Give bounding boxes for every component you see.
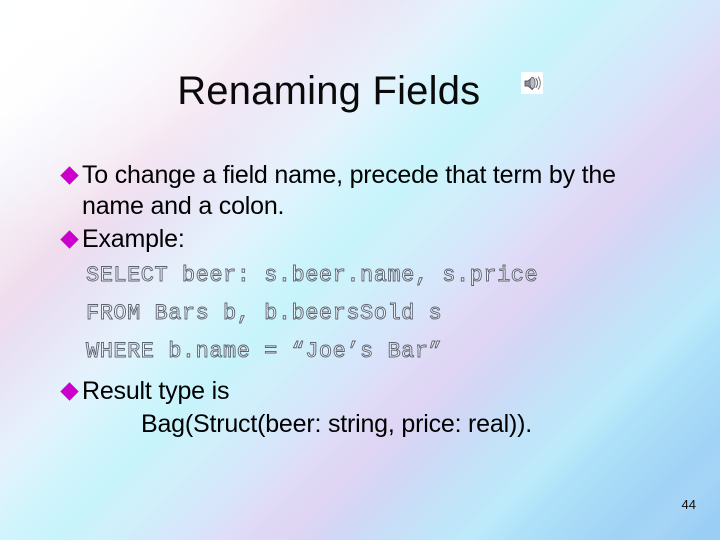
title-row: Renaming Fields: [0, 68, 720, 114]
diamond-bullet-icon: [62, 385, 80, 398]
code-line-from: FROM Bars b, b.beersSold s: [86, 295, 682, 333]
bullet-item-3: Result type is: [62, 376, 682, 407]
code-line-where: WHERE b.name = “Joe’s Bar”: [86, 333, 682, 371]
diamond-bullet-icon: [62, 169, 80, 182]
bullet-item-1: To change a field name, precede that ter…: [62, 160, 682, 222]
page-title: Renaming Fields: [177, 68, 480, 114]
sound-speaker-icon[interactable]: [521, 72, 543, 94]
bullet-item-2: Example:: [62, 224, 682, 255]
bullet-text-3: Result type is: [82, 376, 229, 407]
slide-canvas: Renaming Fields To change a field name, …: [0, 0, 720, 540]
diamond-bullet-icon: [62, 233, 80, 246]
bullet-text-1: To change a field name, precede that ter…: [82, 160, 682, 222]
page-number: 44: [682, 497, 696, 512]
bullet-text-2: Example:: [82, 224, 185, 255]
slide-body: To change a field name, precede that ter…: [62, 160, 682, 441]
code-line-select: SELECT beer: s.beer.name, s.price: [86, 257, 682, 295]
result-type-expression: Bag(Struct(beer: string, price: real)).: [141, 407, 682, 441]
